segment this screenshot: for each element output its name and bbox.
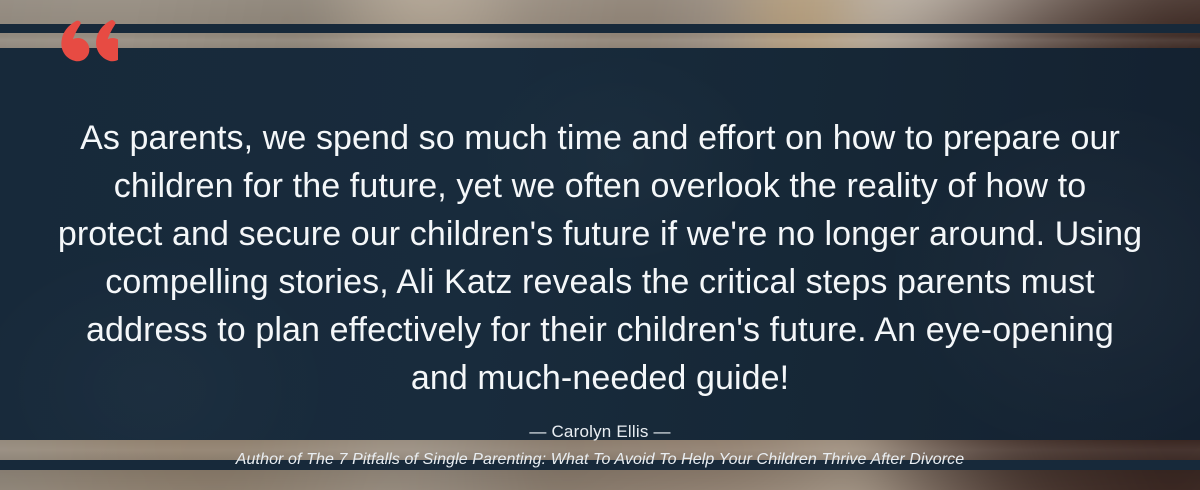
attribution-author-title: Author of The 7 Pitfalls of Single Paren…: [0, 448, 1200, 472]
testimonial-banner: As parents, we spend so much time and ef…: [0, 0, 1200, 490]
quote-line: protect and secure our children's future…: [0, 210, 1200, 258]
attribution-block: — Carolyn Ellis — Author of The 7 Pitfal…: [0, 420, 1200, 472]
quote-text-block: As parents, we spend so much time and ef…: [0, 114, 1200, 402]
quote-panel: As parents, we spend so much time and ef…: [0, 48, 1200, 440]
quote-line: compelling stories, Ali Katz reveals the…: [0, 258, 1200, 306]
quote-line: and much-needed guide!: [0, 354, 1200, 402]
attribution-author-name: — Carolyn Ellis —: [0, 420, 1200, 444]
quote-line: address to plan effectively for their ch…: [0, 306, 1200, 354]
top-divider-rule: [0, 24, 1200, 33]
quote-line: children for the future, yet we often ov…: [0, 162, 1200, 210]
double-quote-icon: [52, 20, 118, 66]
quote-line: As parents, we spend so much time and ef…: [0, 114, 1200, 162]
